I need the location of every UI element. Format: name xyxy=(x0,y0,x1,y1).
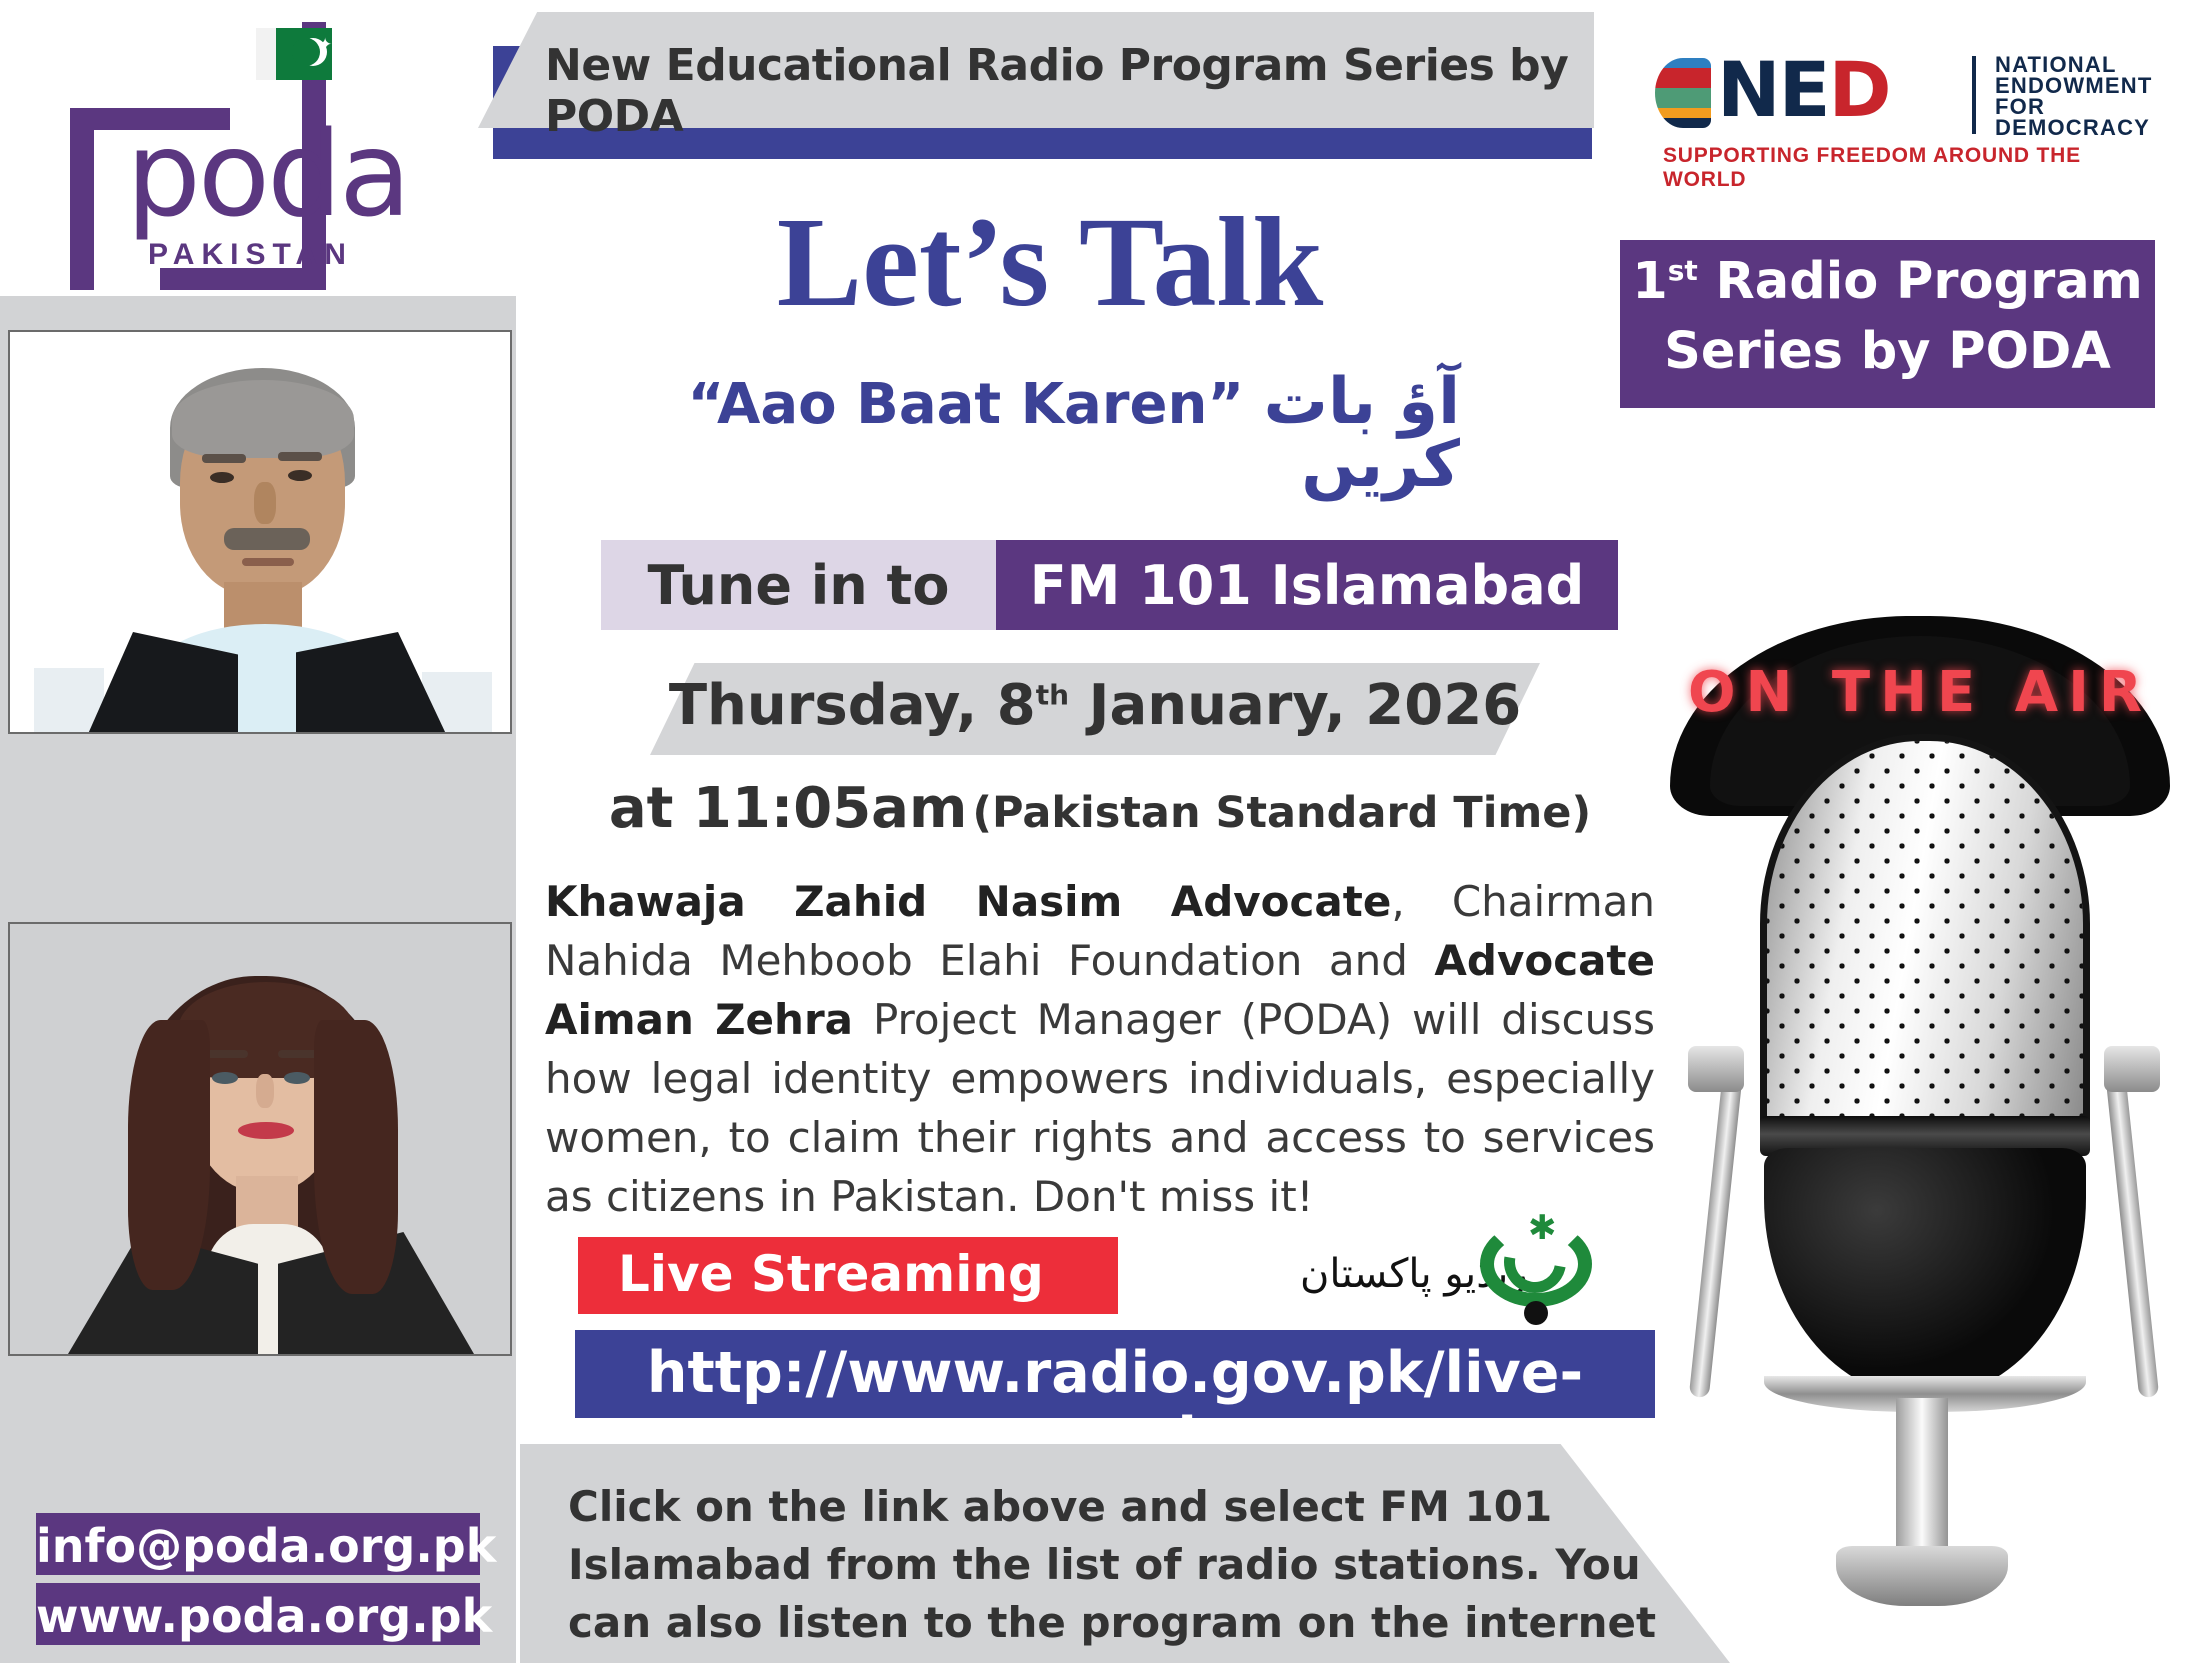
series-badge: 1st Radio Program Series by PODA xyxy=(1620,240,2155,408)
woman-hair-left xyxy=(128,1020,210,1290)
subtitle: “Aao Baat Karen” آؤ بات کریں xyxy=(560,372,1460,498)
woman-brow-left xyxy=(206,1050,248,1058)
man-mouth xyxy=(242,558,294,566)
man-eye-left xyxy=(210,472,234,483)
woman-eye-left xyxy=(212,1072,238,1084)
crescent-icon xyxy=(292,38,320,66)
woman-nose xyxy=(256,1074,274,1108)
live-streaming-badge: Live Streaming at xyxy=(578,1237,1118,1314)
ned-full-name: NATIONALENDOWMENTFORDEMOCRACY xyxy=(1995,54,2152,138)
star-icon: ✦ xyxy=(318,36,332,53)
broadcast-timezone: (Pakistan Standard Time) xyxy=(972,788,1591,838)
man-brow-left xyxy=(202,454,246,463)
broadcast-time-value: at 11:05am xyxy=(609,776,967,841)
program-description: Khawaja Zahid Nasim Advocate, Chairman N… xyxy=(545,872,1655,1226)
broadcast-time: at 11:05am (Pakistan Standard Time) xyxy=(600,776,1600,841)
subtitle-english: “Aao Baat Karen” xyxy=(687,372,1244,437)
ned-letters: NED xyxy=(1717,52,1890,128)
mic-knob-left xyxy=(1688,1046,1744,1092)
subtitle-urdu: آؤ بات کریں xyxy=(1264,365,1460,502)
mic-grille-perforations xyxy=(1767,741,2083,1127)
ned-letters-ne: NE xyxy=(1717,45,1829,134)
station-box: FM 101 Islamabad xyxy=(996,540,1618,630)
poda-logo: poda PAKISTAN ✦ xyxy=(60,20,360,290)
pakistan-flag-white-stripe xyxy=(256,28,276,80)
series-badge-line1: 1st Radio Program xyxy=(1620,252,2155,311)
mic-yoke-right xyxy=(2105,1068,2159,1398)
man-mustache xyxy=(224,528,310,550)
instructions-text: Click on the link above and select FM 10… xyxy=(568,1478,1688,1663)
contact-email[interactable]: info@poda.org.pk xyxy=(36,1519,480,1573)
contact-email-box[interactable]: info@poda.org.pk xyxy=(36,1513,480,1575)
broadcast-date: Thursday, 8th January, 2026 xyxy=(650,673,1540,738)
tune-in-label-box: Tune in to xyxy=(601,540,996,630)
ned-logo: NED NATIONALENDOWMENTFORDEMOCRACY SUPPOR… xyxy=(1655,40,2135,180)
poda-country-label: PAKISTAN xyxy=(148,238,353,272)
on-air-text: ON THE AIR xyxy=(1660,660,2180,725)
poda-wordmark: poda xyxy=(126,115,408,233)
woman-lips xyxy=(238,1122,294,1139)
ned-tagline: SUPPORTING FREEDOM AROUND THE WORLD xyxy=(1663,144,2135,192)
poster-canvas: poda PAKISTAN ✦ New Educational Radio Pr… xyxy=(0,0,2200,1663)
emblem-star-icon: ✱ xyxy=(1528,1211,1557,1245)
man-eye-right xyxy=(288,470,312,481)
mic-yoke-left xyxy=(1689,1068,1743,1398)
contact-website[interactable]: www.poda.org.pk xyxy=(36,1589,480,1643)
man-brow-right xyxy=(278,452,322,461)
woman-eye-right xyxy=(284,1072,310,1084)
speaker-photo-woman xyxy=(8,922,512,1356)
ned-globe-icon xyxy=(1655,58,1711,128)
mic-body xyxy=(1764,1148,2086,1398)
mic-base xyxy=(1836,1546,2008,1606)
station-name: FM 101 Islamabad xyxy=(996,554,1618,617)
radio-pakistan-emblem-icon: ✱ xyxy=(1480,1215,1592,1323)
microphone-illustration: ON THE AIR xyxy=(1660,616,2180,1663)
header-banner-text: New Educational Radio Program Series by … xyxy=(545,40,1585,142)
mic-stem xyxy=(1896,1398,1948,1558)
woman-hair-right xyxy=(314,1020,398,1294)
radio-pakistan-logo: ریڈیو پاکستان ✱ xyxy=(1300,1215,1600,1335)
tune-in-label: Tune in to xyxy=(601,554,996,617)
ned-divider xyxy=(1972,56,1976,134)
mic-grille xyxy=(1760,734,2090,1134)
emblem-dot-icon xyxy=(1524,1301,1548,1325)
speaker-photo-man xyxy=(8,330,512,734)
mic-knob-right xyxy=(2104,1046,2160,1092)
poda-frame-left xyxy=(70,108,94,290)
live-streaming-url-box[interactable]: http://www.radio.gov.pk/live-streaming xyxy=(575,1330,1655,1418)
man-nose xyxy=(254,482,276,524)
page-title: Let’s Talk xyxy=(640,198,1460,326)
man-hair xyxy=(172,380,354,458)
ned-letter-d: D xyxy=(1829,45,1890,134)
contact-website-box[interactable]: www.poda.org.pk xyxy=(36,1583,480,1645)
series-badge-line2: Series by PODA xyxy=(1620,322,2155,381)
